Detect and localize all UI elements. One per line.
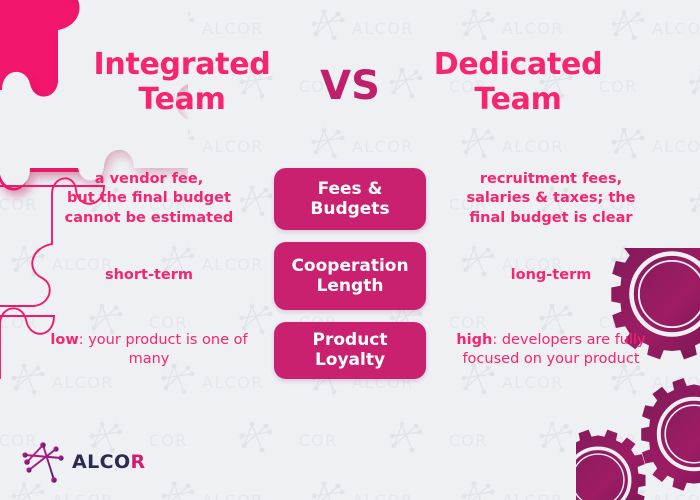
alcor-logo[interactable]: ALCOR bbox=[22, 440, 146, 484]
row2-left-line1: short-term bbox=[34, 266, 264, 285]
row1-right-text: recruitment fees, salaries & taxes; the … bbox=[426, 170, 676, 227]
alcor-logo-text-main: ALCO bbox=[72, 451, 131, 473]
comparison-rows: a vendor fee, but the final budget canno… bbox=[0, 168, 700, 379]
badge-cooperation-label: Cooperation Length bbox=[291, 256, 408, 297]
row2-left-text: short-term bbox=[24, 266, 274, 285]
alcor-logo-text-accent: R bbox=[131, 451, 146, 473]
row1-left-line2: but the final budget bbox=[34, 189, 264, 208]
row3-left-text: low: your product is one of many bbox=[24, 331, 274, 369]
badge-cooperation-length[interactable]: Cooperation Length bbox=[274, 242, 426, 310]
badge-fees-and-budgets[interactable]: Fees & Budgets bbox=[274, 168, 426, 230]
alcor-constellation-icon bbox=[22, 440, 66, 484]
infographic-canvas: ALCOR ALCOR bbox=[0, 0, 700, 500]
heading-vs: VS bbox=[307, 48, 393, 108]
comparison-row: short-term Cooperation Length long-term bbox=[0, 242, 700, 310]
row2-right-text: long-term bbox=[426, 266, 676, 285]
alcor-logo-text: ALCOR bbox=[72, 451, 146, 473]
badge-cooperation-line2: Length bbox=[317, 276, 384, 296]
row1-right-line3: final budget is clear bbox=[436, 209, 666, 228]
row1-right-line1: recruitment fees, bbox=[436, 170, 666, 189]
headings-row: Integrated Team VS Dedicated Team bbox=[0, 48, 700, 117]
comparison-row: low: your product is one of many Product… bbox=[0, 322, 700, 379]
row3-left-rest: : your product is one of many bbox=[79, 332, 248, 367]
heading-dedicated-team: Dedicated Team bbox=[393, 48, 643, 117]
row3-left-lead: low bbox=[50, 332, 78, 348]
badge-loyalty-label: Product Loyalty bbox=[284, 330, 416, 371]
heading-left-line2: Team bbox=[57, 83, 307, 118]
row1-right-line2: salaries & taxes; the bbox=[436, 189, 666, 208]
badge-product-loyalty[interactable]: Product Loyalty bbox=[274, 322, 426, 379]
row1-left-line1: a vendor fee, bbox=[34, 170, 264, 189]
row3-right-text: high: developers are fully focused on yo… bbox=[426, 331, 676, 369]
row2-right-line1: long-term bbox=[436, 266, 666, 285]
heading-right-line2: Team bbox=[393, 83, 643, 118]
heading-right-line1: Dedicated bbox=[393, 48, 643, 83]
row1-left-text: a vendor fee, but the final budget canno… bbox=[24, 170, 274, 227]
row1-left-line3: cannot be estimated bbox=[34, 209, 264, 228]
comparison-row: a vendor fee, but the final budget canno… bbox=[0, 168, 700, 230]
badge-cooperation-line1: Cooperation bbox=[291, 256, 408, 276]
heading-left-line1: Integrated bbox=[57, 48, 307, 83]
badge-fees-label: Fees & Budgets bbox=[284, 179, 416, 220]
row3-right-lead: high bbox=[456, 332, 492, 348]
heading-integrated-team: Integrated Team bbox=[57, 48, 307, 117]
